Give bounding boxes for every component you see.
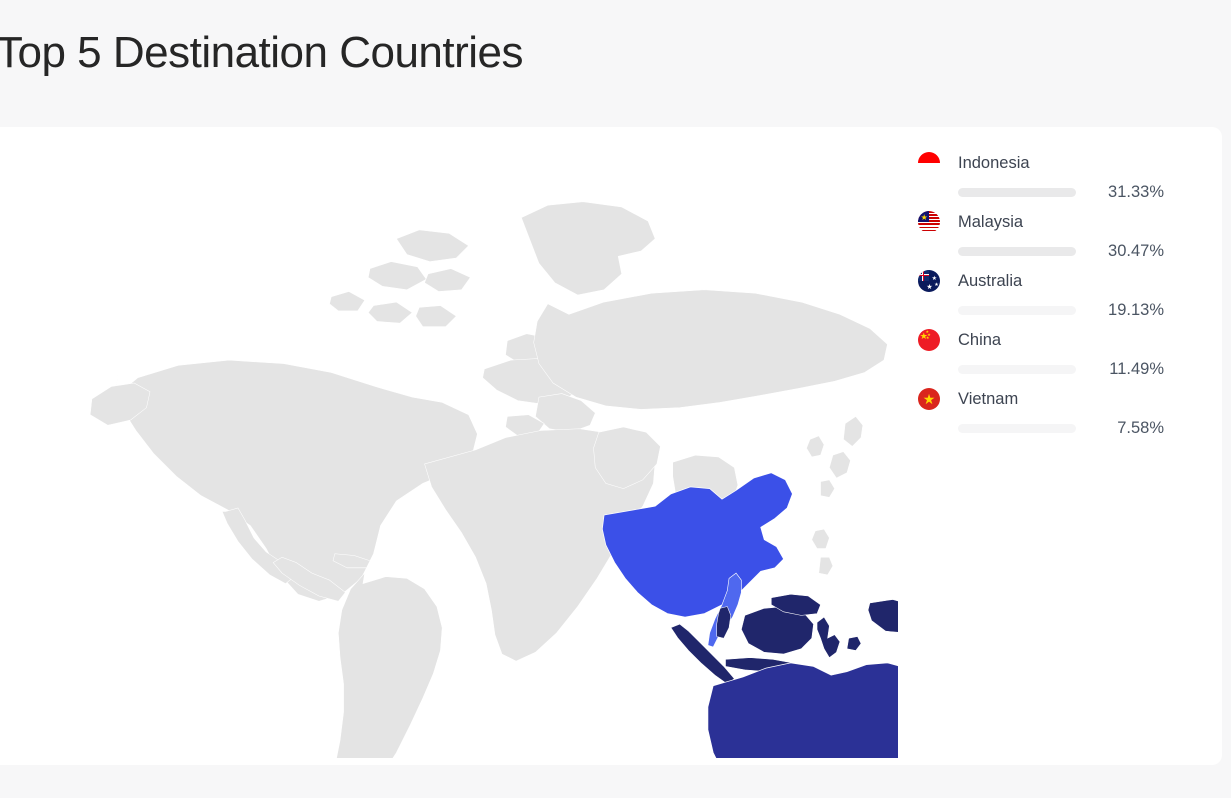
map-highlight-indonesia-papua[interactable] <box>868 600 898 633</box>
legend-percent: 19.13% <box>1054 298 1164 322</box>
world-map-svg[interactable] <box>18 133 898 758</box>
map-card: Indonesia 31.33% ★ <box>0 127 1222 765</box>
legend-row-australia[interactable]: ★ ★ ★ Australia 19.13% <box>918 268 1178 327</box>
legend-percent: 11.49% <box>1054 357 1164 381</box>
legend-row-malaysia[interactable]: ★ Malaysia 30.47% <box>918 209 1178 268</box>
page-title: Top 5 Destination Countries <box>0 28 523 77</box>
dashboard-panel: Top 5 Destination Countries <box>0 0 1231 798</box>
flag-vietnam-icon: ★ <box>918 388 940 410</box>
legend-row-china[interactable]: ★ ★ ★ ★ China 11.49% <box>918 327 1178 386</box>
legend-country-name: Indonesia <box>958 150 1030 176</box>
legend-row-indonesia[interactable]: Indonesia 31.33% <box>918 150 1178 209</box>
flag-malaysia-icon: ★ <box>918 211 940 233</box>
legend-country-name: Vietnam <box>958 386 1018 412</box>
world-map[interactable] <box>0 127 900 765</box>
flag-australia-icon: ★ ★ ★ <box>918 270 940 292</box>
legend-row-vietnam[interactable]: ★ Vietnam 7.58% <box>918 386 1178 445</box>
legend-country-name: Malaysia <box>958 209 1023 235</box>
flag-china-icon: ★ ★ ★ ★ <box>918 329 940 351</box>
flag-indonesia-icon <box>918 152 940 174</box>
map-highlight-indonesia-sulawesi[interactable] <box>817 617 840 657</box>
country-legend: Indonesia 31.33% ★ <box>918 150 1178 445</box>
map-highlight-australia[interactable] <box>708 663 898 758</box>
legend-percent: 31.33% <box>1054 180 1164 204</box>
legend-country-name: China <box>958 327 1001 353</box>
legend-country-name: Australia <box>958 268 1022 294</box>
map-highlight-indonesia-maluku[interactable] <box>847 636 861 650</box>
legend-percent: 30.47% <box>1054 239 1164 263</box>
legend-percent: 7.58% <box>1054 416 1164 440</box>
